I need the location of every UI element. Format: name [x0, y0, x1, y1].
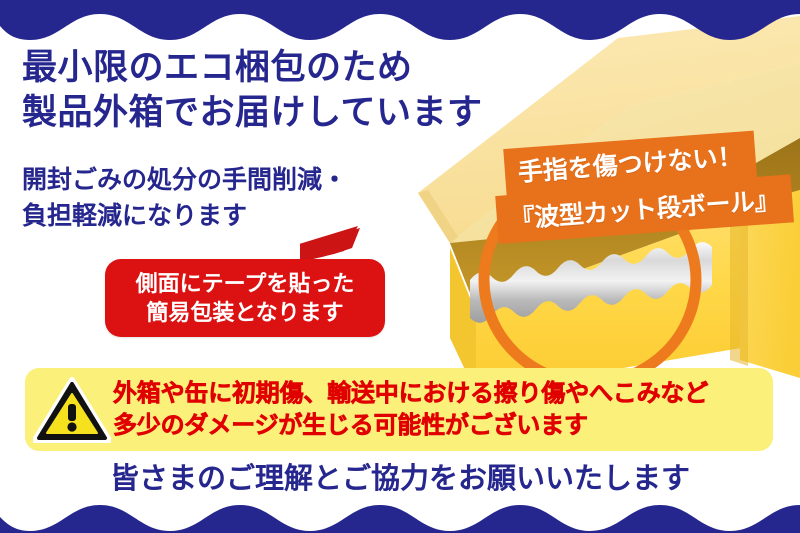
warning-line-2: 多少のダメージが生じる可能性がございます	[113, 410, 773, 442]
warning-text: 外箱や缶に初期傷、輸送中における擦り傷やへこみなど 多少のダメージが生じる可能性…	[113, 378, 773, 441]
subheadline-row-1: 開封ごみの処分の手間削減・	[22, 163, 442, 199]
red-callout-box: 側面にテープを貼った 簡易包装となります	[105, 259, 385, 337]
subheadline-line-1: 開封ごみの処分の手間削減・	[22, 163, 347, 199]
headline: 最小限のエコ梱包のため 製品外箱でお届けしています	[22, 46, 562, 136]
promo-banner: 最小限のエコ梱包のため 製品外箱でお届けしています 開封ごみの処分の手間削減・ …	[0, 0, 800, 533]
warning-triangle-icon	[33, 377, 111, 443]
closing-text: 皆さまのご理解とご協力をお願いいたします	[110, 455, 690, 497]
red-callout-line-1: 側面にテープを貼った	[136, 269, 355, 298]
red-callout-line-2: 簡易包装となります	[146, 298, 343, 327]
subheadline-row-2: 負担軽減になります	[22, 199, 442, 235]
warning-line-1: 外箱や缶に初期傷、輸送中における擦り傷やへこみなど	[113, 378, 773, 410]
subheadline-line-2: 負担軽減になります	[22, 199, 247, 235]
subheadline: 開封ごみの処分の手間削減・ 負担軽減になります	[22, 163, 442, 234]
warning-panel: 外箱や缶に初期傷、輸送中における擦り傷やへこみなど 多少のダメージが生じる可能性…	[25, 368, 773, 451]
headline-line-2: 製品外箱でお届けしています	[22, 91, 562, 136]
box-corner-shade	[730, 208, 748, 366]
closing-message: 皆さまのご理解とご協力をお願いいたします	[0, 455, 800, 497]
headline-line-1: 最小限のエコ梱包のため	[22, 46, 562, 91]
